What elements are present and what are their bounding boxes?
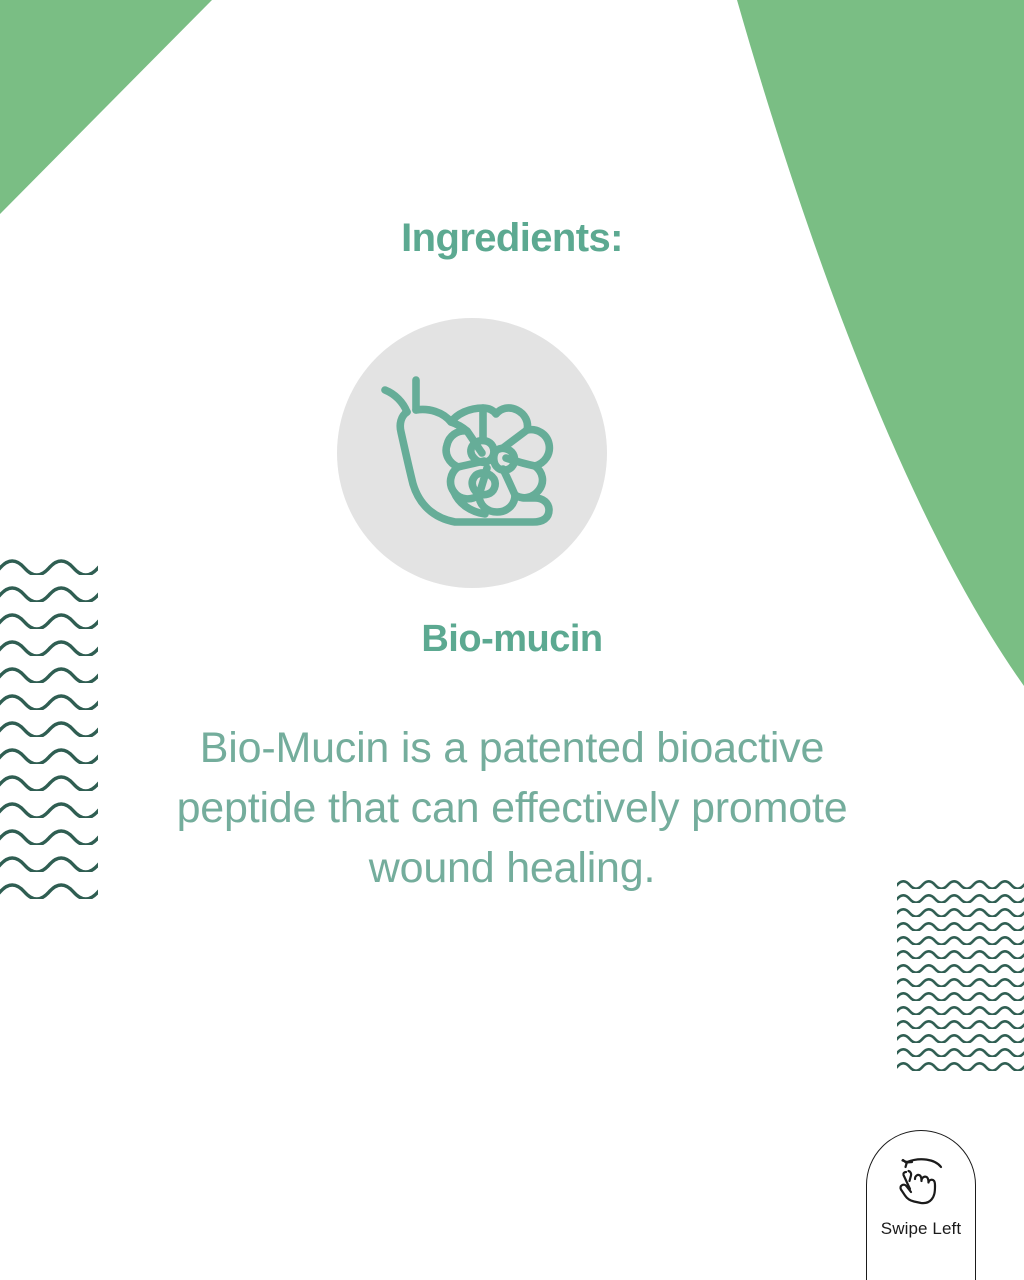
page-title: Ingredients:	[0, 216, 1024, 261]
ingredient-icon-circle	[337, 318, 607, 588]
swipe-badge-label: Swipe Left	[881, 1219, 961, 1239]
right-wave-pattern	[897, 875, 1024, 1072]
ingredient-name: Bio-mucin	[0, 618, 1024, 661]
swipe-hand-icon	[890, 1151, 952, 1213]
swipe-left-badge[interactable]: Swipe Left	[866, 1130, 976, 1280]
left-wave-pattern	[0, 548, 98, 900]
slide-canvas: Ingredients:	[0, 0, 1024, 1280]
snail-icon	[337, 318, 607, 588]
ingredient-description: Bio-Mucin is a patented bioactive peptid…	[172, 718, 852, 898]
top-right-green-curve	[737, 0, 1024, 686]
top-left-green-wedge	[0, 0, 212, 214]
